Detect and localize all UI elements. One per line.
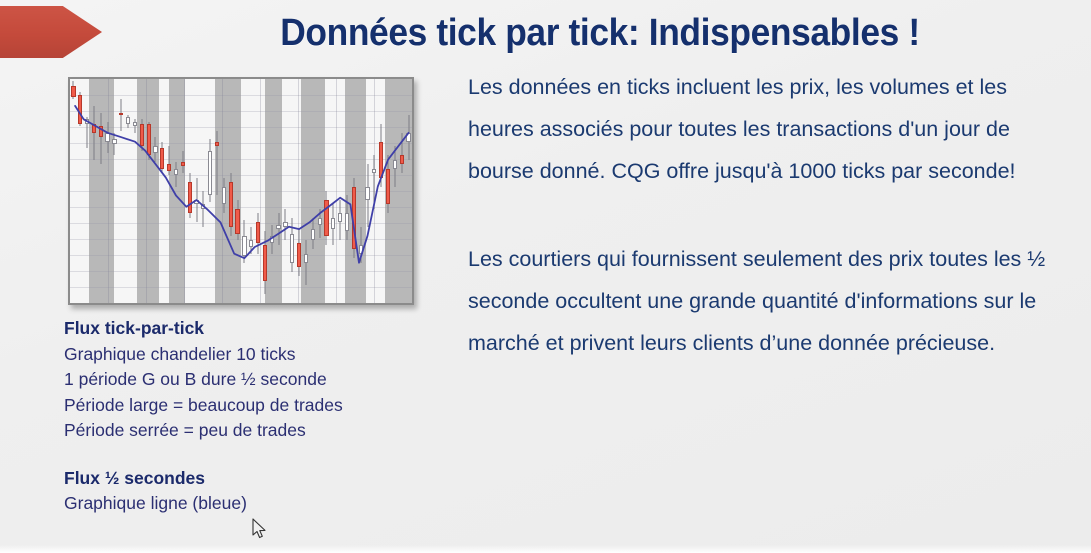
caption-line-2: 1 période G ou B dure ½ seconde <box>64 367 464 393</box>
accent-arrow-shape <box>0 6 102 58</box>
body-paragraph-2: Les courtiers qui fournissent seulement … <box>468 238 1068 364</box>
slide-root: Données tick par tick: Indispensables ! … <box>0 0 1091 553</box>
bottom-edge-fade <box>0 545 1091 553</box>
candlestick-chart <box>68 77 414 305</box>
overlay-line-svg <box>70 79 412 303</box>
caption-line-3: Période large = beaucoup de trades <box>64 393 464 419</box>
chart-frame <box>68 77 414 305</box>
caption-line-1: Graphique chandelier 10 ticks <box>64 342 464 368</box>
caption-line-5: Graphique ligne (bleue) <box>64 491 464 517</box>
page-title: Données tick par tick: Indispensables ! <box>182 2 1019 64</box>
caption-heading-tick: Flux tick-par-tick <box>64 316 464 342</box>
chart-plot-area <box>70 79 412 303</box>
body-paragraph-1: Les données en ticks incluent les prix, … <box>468 66 1068 192</box>
right-body-column: Les données en ticks incluent les prix, … <box>468 66 1068 364</box>
caption-heading-halfsecond: Flux ½ secondes <box>64 466 464 492</box>
left-caption-block: Flux tick-par-tick Graphique chandelier … <box>64 316 464 517</box>
caption-line-4: Période serrée = peu de trades <box>64 418 464 444</box>
paragraph-spacer <box>468 192 1068 238</box>
chart-overlay-line <box>70 79 412 303</box>
mouse-cursor-icon <box>252 518 268 540</box>
caption-spacer <box>64 444 464 466</box>
